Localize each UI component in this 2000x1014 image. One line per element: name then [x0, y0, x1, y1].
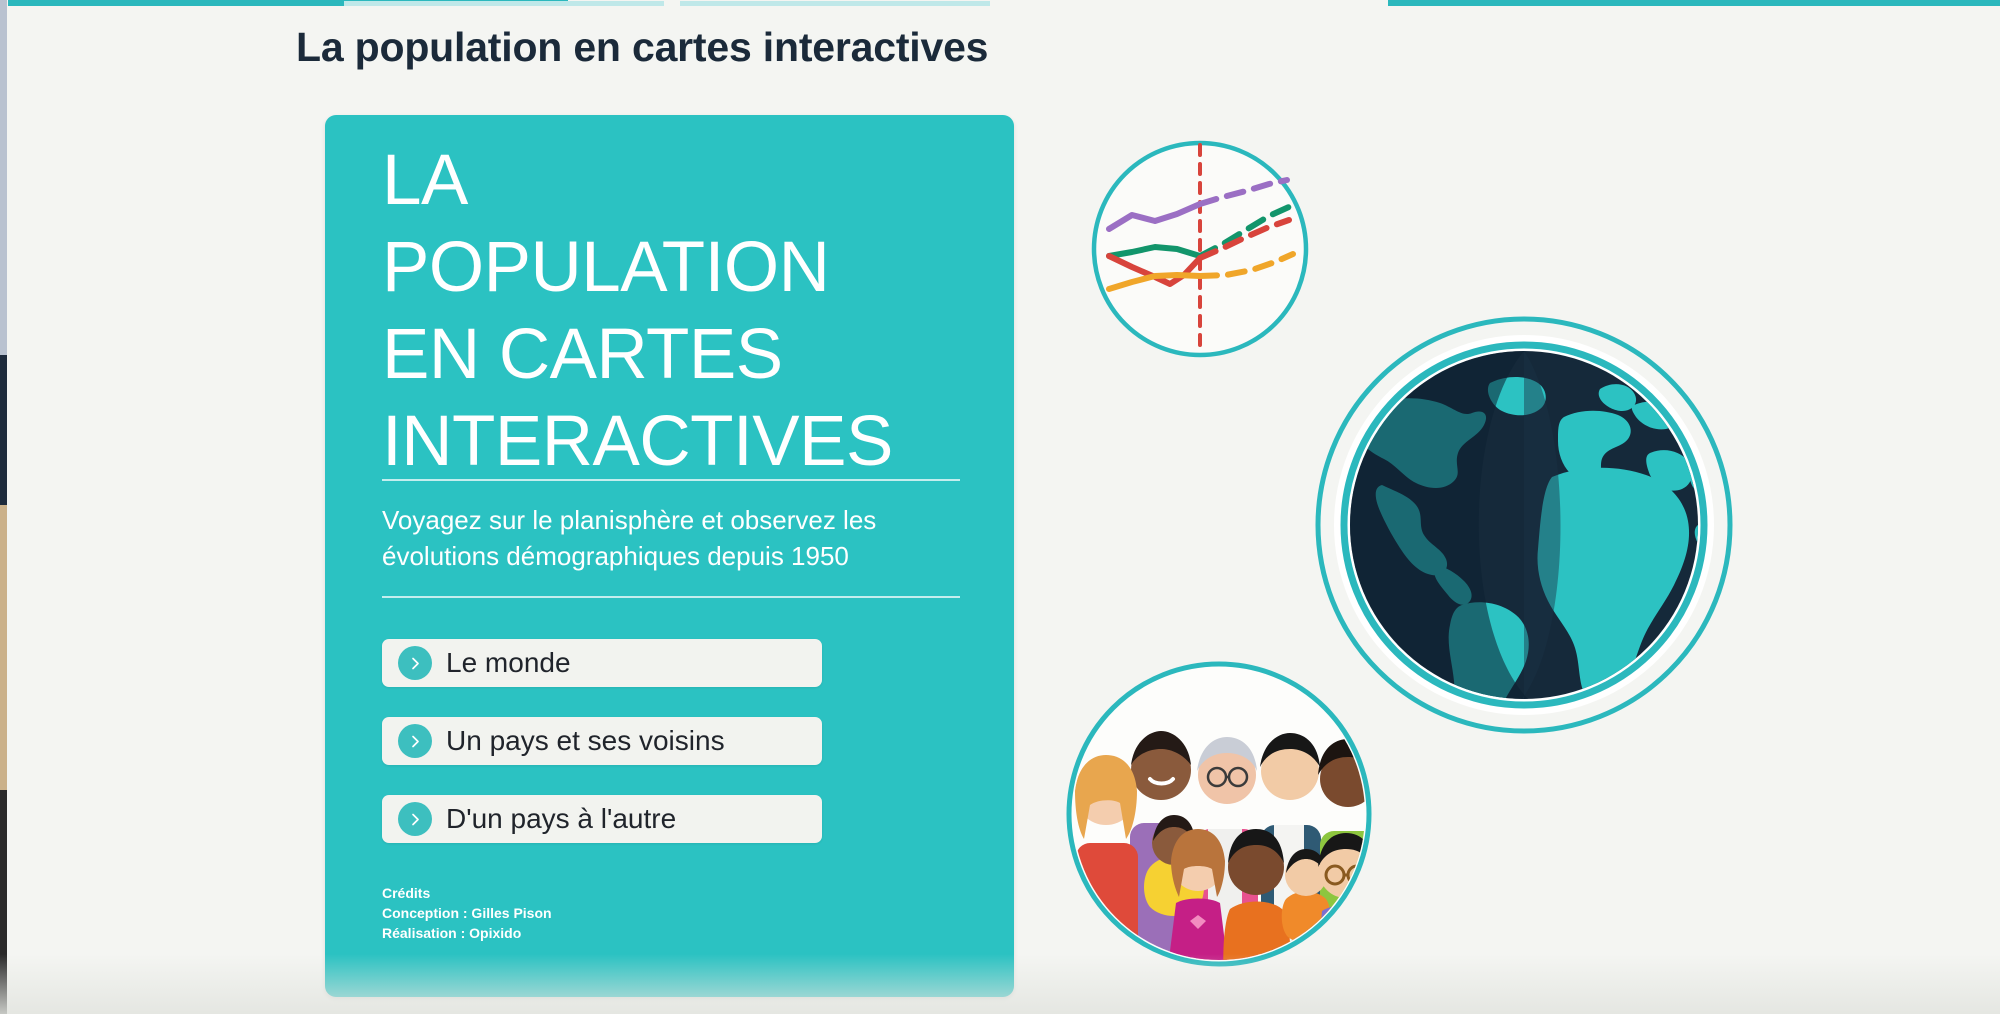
nav-button-label: D'un pays à l'autre: [446, 803, 676, 835]
nav-button-dun-pays-a-lautre[interactable]: D'un pays à l'autre: [382, 795, 822, 843]
card-heading-line-1: LA: [382, 137, 1022, 224]
interactive-maps-card: LA POPULATION EN CARTES INTERACTIVES Voy…: [325, 115, 1014, 997]
edge-slice-3: [0, 505, 7, 790]
credits-conception: Conception : Gilles Pison: [382, 903, 552, 923]
people-group-icon: [1058, 653, 1380, 975]
chevron-right-icon: [398, 724, 432, 758]
divider-bottom: [382, 596, 960, 598]
top-accent-rule: [8, 0, 2000, 9]
top-rule-segment: [680, 1, 990, 6]
card-heading-line-4: INTERACTIVES: [382, 398, 1022, 485]
edge-slice-2: [0, 355, 7, 505]
top-rule-segment: [1388, 0, 2000, 6]
card-heading-line-2: POPULATION: [382, 224, 1022, 311]
chevron-right-icon: [398, 646, 432, 680]
top-rule-segment: [344, 1, 664, 6]
nav-button-le-monde[interactable]: Le monde: [382, 639, 822, 687]
nav-button-label: Un pays et ses voisins: [446, 725, 725, 757]
credits-block: Crédits Conception : Gilles Pison Réalis…: [382, 883, 552, 943]
page-title: La population en cartes interactives: [296, 24, 988, 71]
card-heading-line-3: EN CARTES: [382, 311, 1022, 398]
card-subtitle-line-1: Voyagez sur le planisphère et observez l…: [382, 502, 982, 538]
credits-heading: Crédits: [382, 883, 552, 903]
chevron-right-icon: [398, 802, 432, 836]
credits-realisation: Réalisation : Opixido: [382, 923, 552, 943]
card-subtitle-line-2: évolutions démographiques depuis 1950: [382, 538, 982, 574]
card-navigation-list: Le monde Un pays et ses voisins D'un pay…: [382, 639, 822, 843]
card-subtitle: Voyagez sur le planisphère et observez l…: [382, 502, 982, 574]
page-root: La population en cartes interactives LA …: [0, 0, 2000, 1014]
divider-top: [382, 479, 960, 481]
nav-button-label: Le monde: [446, 647, 571, 679]
nav-button-un-pays-et-ses-voisins[interactable]: Un pays et ses voisins: [382, 717, 822, 765]
edge-slice-1: [0, 0, 7, 355]
card-heading: LA POPULATION EN CARTES INTERACTIVES: [382, 137, 1022, 485]
offscreen-page-edge: [0, 0, 7, 1014]
demographic-trends-chart-icon: [1087, 136, 1313, 362]
edge-slice-4: [0, 790, 7, 1014]
